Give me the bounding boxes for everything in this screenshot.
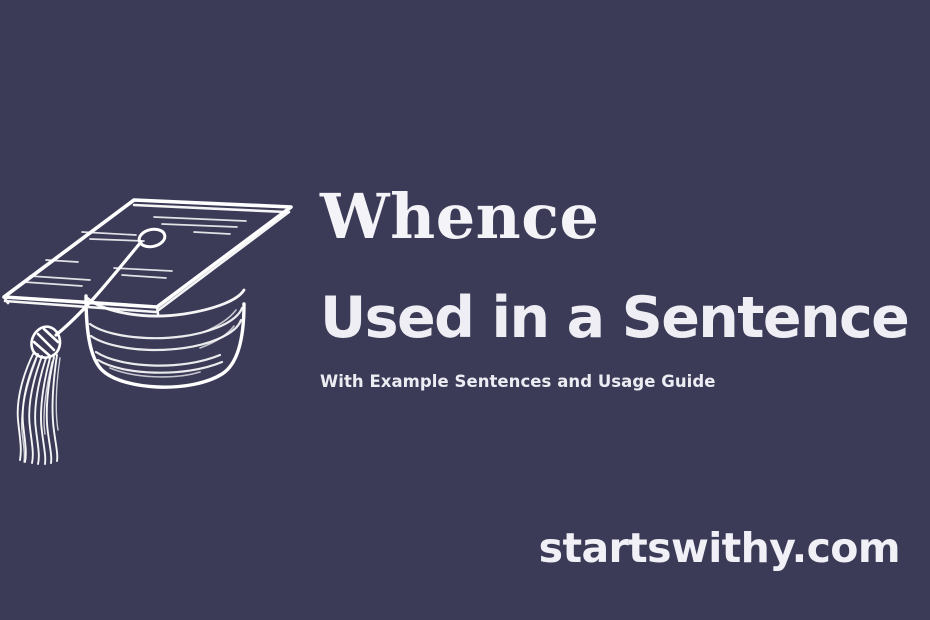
poster-canvas: Whence Used in a Sentence With Example S… [0,0,930,620]
brand-wordmark: startswithy.com [539,524,900,572]
subtitle: Used in a Sentence [320,289,908,349]
graduation-cap-icon [0,172,294,462]
headline-block: Whence [320,186,920,248]
tagline: With Example Sentences and Usage Guide [320,372,715,391]
page-title: Whence [320,186,920,248]
